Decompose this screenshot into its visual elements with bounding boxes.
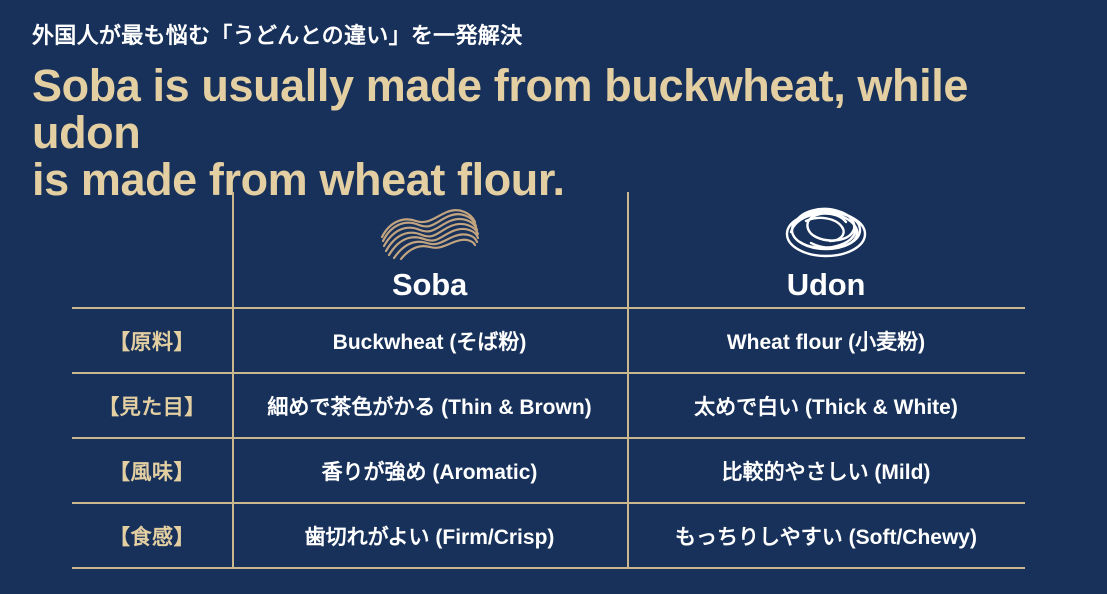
cell-udon-4: もっちりしやすい (Soft/Chewy) xyxy=(627,504,1025,567)
slide-header: 外国人が最も悩む「うどんとの違い」を一発解決 Soba is usually m… xyxy=(32,22,1077,203)
headline-line-1: Soba is usually made from buckwheat, whi… xyxy=(32,62,1077,157)
cell-soba-4: 歯切れがよい (Firm/Crisp) xyxy=(232,504,627,567)
table-header-soba: Soba xyxy=(232,192,627,307)
row-attribute-4: 【食感】 xyxy=(72,504,232,567)
table-grid: Soba Udon 【原料】 Buck xyxy=(72,192,1025,569)
udon-noodle-icon xyxy=(778,201,874,263)
cell-soba-1: Buckwheat (そば粉) xyxy=(232,309,627,372)
cell-soba-3: 香りが強め (Aromatic) xyxy=(232,439,627,502)
row-attribute-1: 【原料】 xyxy=(72,309,232,372)
page-title: Soba is usually made from buckwheat, whi… xyxy=(32,62,1077,204)
cell-soba-2: 細めで茶色がかる (Thin & Brown) xyxy=(232,374,627,437)
column-divider-1 xyxy=(232,192,234,569)
row-divider-bottom xyxy=(72,567,1025,569)
comparison-table: Soba Udon 【原料】 Buck xyxy=(72,192,1025,569)
table-header-udon: Udon xyxy=(627,192,1025,307)
table-header-row: Soba Udon xyxy=(72,192,1025,307)
soba-noodle-icon xyxy=(375,201,485,263)
cell-udon-3: 比較的やさしい (Mild) xyxy=(627,439,1025,502)
row-attribute-3: 【風味】 xyxy=(72,439,232,502)
table-header-corner xyxy=(72,192,232,307)
cell-udon-2: 太めで白い (Thick & White) xyxy=(627,374,1025,437)
column-label-soba: Soba xyxy=(392,267,467,303)
table-row: 【風味】 香りが強め (Aromatic) 比較的やさしい (Mild) xyxy=(72,439,1025,502)
kicker-text: 外国人が最も悩む「うどんとの違い」を一発解決 xyxy=(32,22,1077,50)
column-label-udon: Udon xyxy=(787,267,865,303)
table-row: 【原料】 Buckwheat (そば粉) Wheat flour (小麦粉) xyxy=(72,309,1025,372)
table-row: 【見た目】 細めで茶色がかる (Thin & Brown) 太めで白い (Thi… xyxy=(72,374,1025,437)
row-attribute-2: 【見た目】 xyxy=(72,374,232,437)
table-row: 【食感】 歯切れがよい (Firm/Crisp) もっちりしやすい (Soft/… xyxy=(72,504,1025,567)
cell-udon-1: Wheat flour (小麦粉) xyxy=(627,309,1025,372)
column-divider-2 xyxy=(627,192,629,569)
